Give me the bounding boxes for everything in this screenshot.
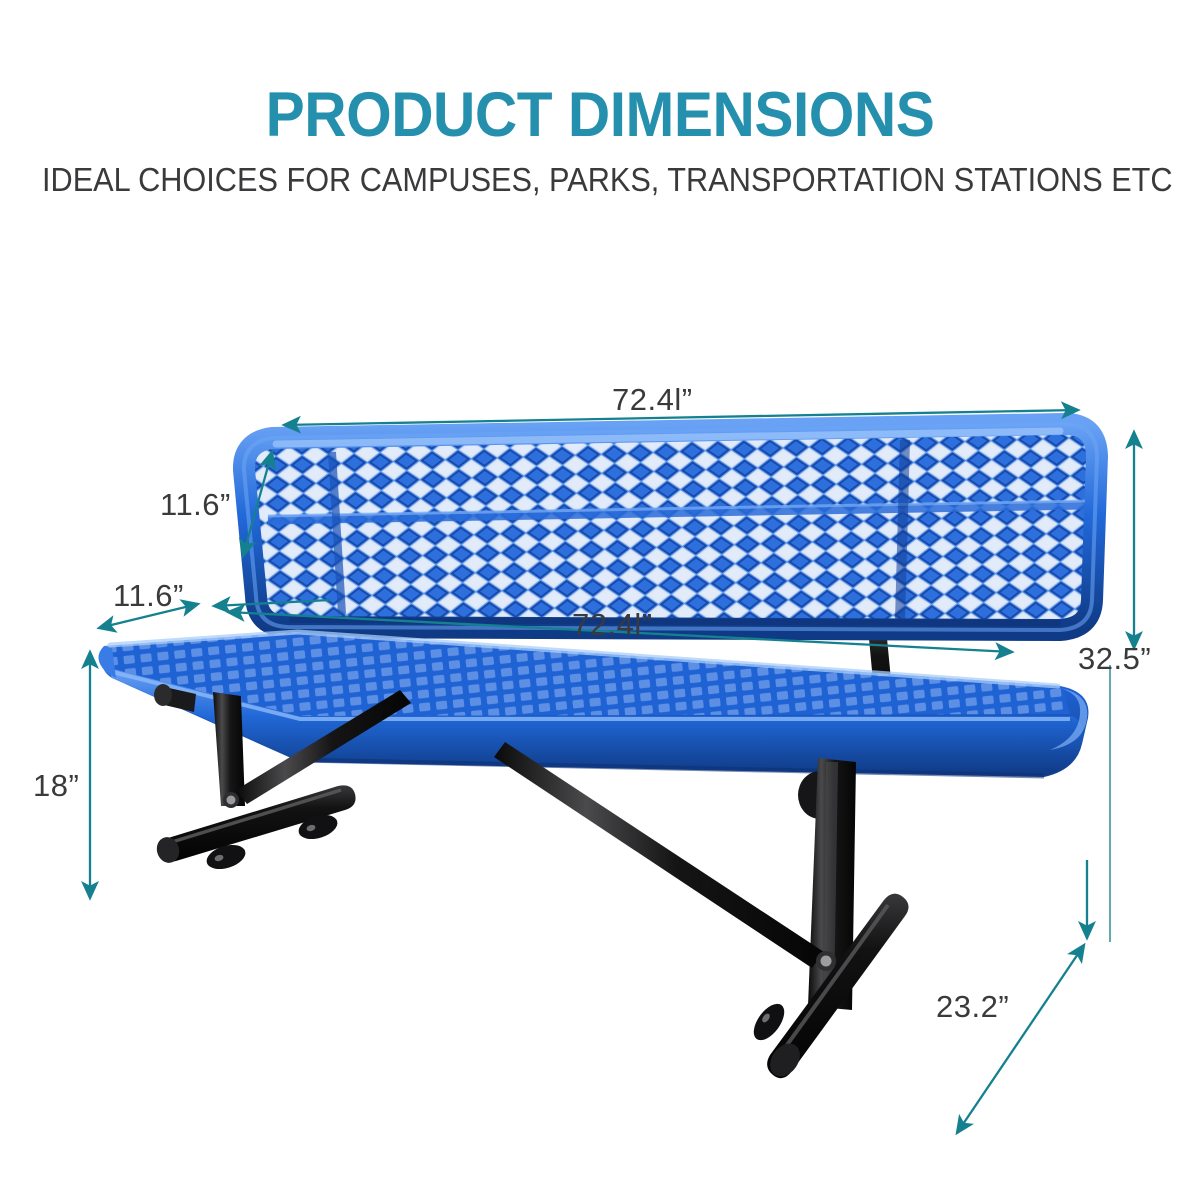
dimension-label-seat-depth: 11.6”: [113, 578, 184, 614]
dimension-label-seat-length: 72.4l”: [572, 607, 653, 643]
arrow-seat-depth-right: [214, 600, 330, 606]
dimension-label-backrest-length: 72.4l”: [612, 382, 693, 418]
dimension-label-seat-height: 18”: [33, 768, 79, 804]
dimension-label-backrest-height: 11.6”: [160, 487, 231, 523]
dimension-label-overall-height: 32.5”: [1078, 641, 1151, 677]
arrow-overall-depth: [957, 945, 1084, 1133]
infographic-canvas: PRODUCT DIMENSIONS IDEAL CHOICES FOR CAM…: [0, 0, 1200, 1200]
dimension-label-overall-depth: 23.2”: [936, 989, 1009, 1025]
arrow-backrest-height: [243, 452, 272, 556]
